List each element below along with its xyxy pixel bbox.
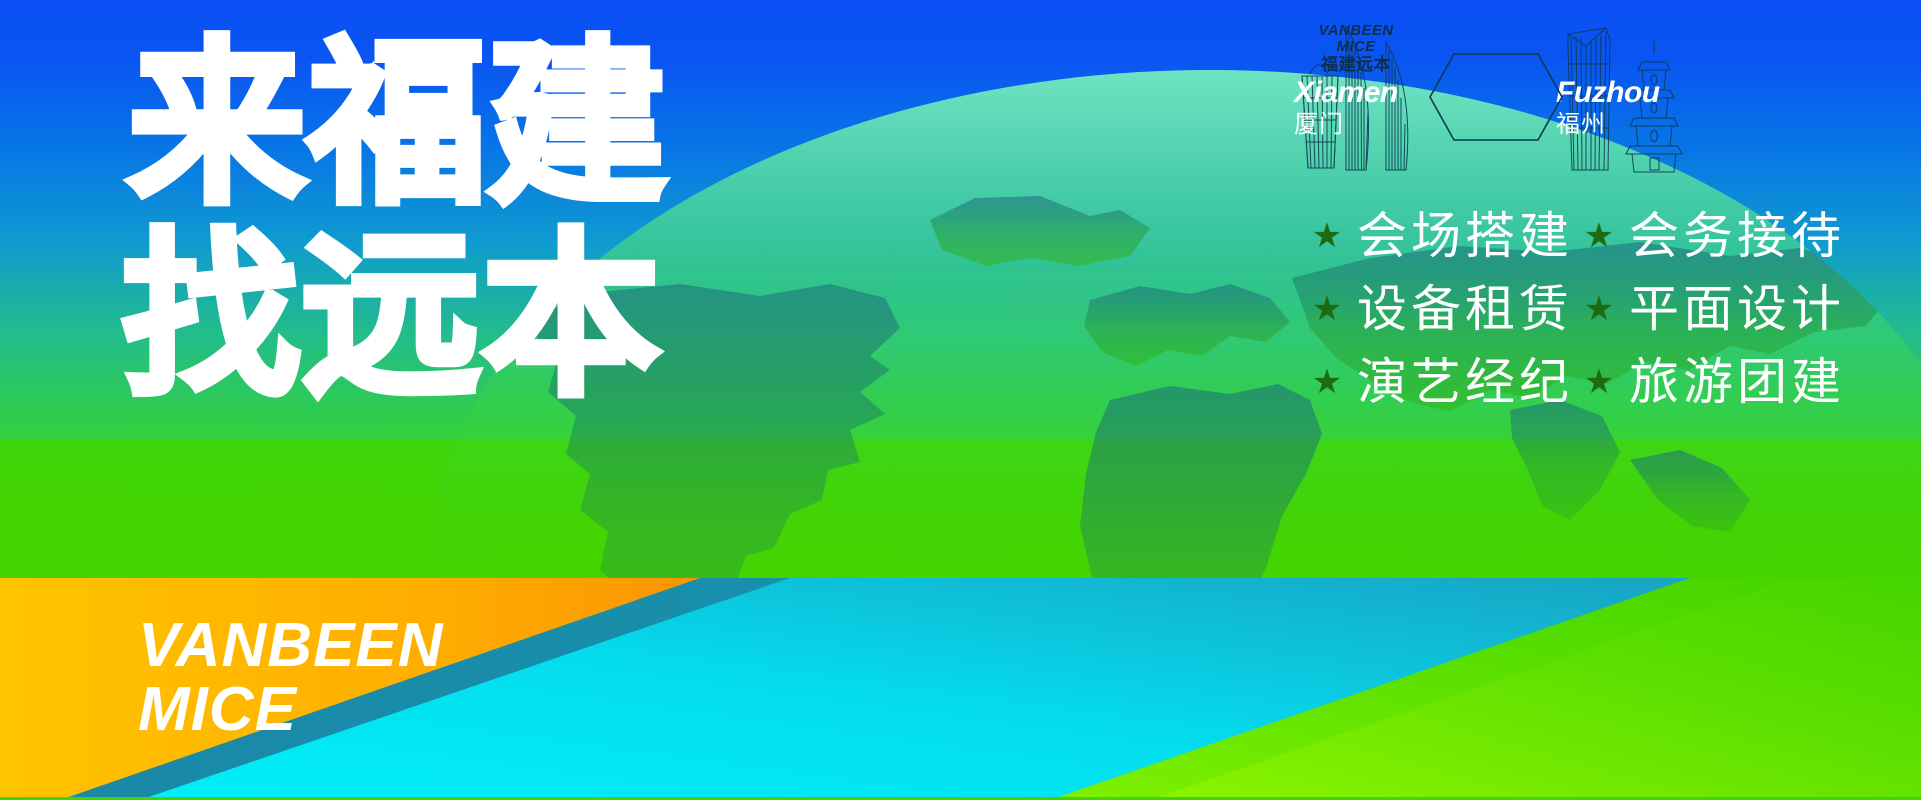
bottom-brand-bar: VANBEEN MICE xyxy=(0,578,1921,800)
vanbeen-hexagon-badge: VANBEEN MICE 福建远本 xyxy=(1288,4,1424,94)
star-icon: ★ xyxy=(1311,294,1343,326)
service-item-performance-agency[interactable]: ★ 演艺经纪 xyxy=(1311,356,1583,409)
promo-banner: 来福建 找远本 ★ 会场搭建 ★ 会务接待 ★ 设备租赁 ★ 平面设计 xyxy=(0,0,1921,800)
service-label: 会场搭建 xyxy=(1357,210,1573,263)
service-label: 设备租赁 xyxy=(1357,283,1573,336)
badge-line-1: VANBEEN xyxy=(1318,23,1393,38)
service-item-graphic-design[interactable]: ★ 平面设计 xyxy=(1583,283,1883,336)
service-item-equipment-rental[interactable]: ★ 设备租赁 xyxy=(1311,283,1583,336)
services-row-2: ★ 设备租赁 ★ 平面设计 xyxy=(1311,283,1883,336)
badge-line-2: MICE xyxy=(1336,39,1375,54)
city-name-en: Fuzhou xyxy=(1556,78,1660,108)
star-icon: ★ xyxy=(1583,367,1615,399)
star-icon: ★ xyxy=(1311,367,1343,399)
city-name-cn: 福州 xyxy=(1556,112,1660,136)
services-row-3: ★ 演艺经纪 ★ 旅游团建 xyxy=(1311,356,1883,409)
headline-line-2: 找远本 xyxy=(122,230,748,404)
service-label: 旅游团建 xyxy=(1629,356,1845,409)
service-item-venue-setup[interactable]: ★ 会场搭建 xyxy=(1311,210,1583,263)
service-label: 演艺经纪 xyxy=(1357,356,1573,409)
vanbeen-hexagon-badge-outline xyxy=(1428,52,1564,142)
city-name-cn: 厦门 xyxy=(1294,112,1398,136)
brand-line-2: MICE xyxy=(138,678,444,742)
service-label: 会务接待 xyxy=(1629,210,1845,263)
service-item-travel-teambuilding[interactable]: ★ 旅游团建 xyxy=(1583,356,1883,409)
city-label-fuzhou: Fuzhou 福州 xyxy=(1556,78,1660,136)
star-icon: ★ xyxy=(1583,294,1615,326)
star-icon: ★ xyxy=(1311,221,1343,253)
service-item-conference-reception[interactable]: ★ 会务接待 xyxy=(1583,210,1883,263)
services-list: ★ 会场搭建 ★ 会务接待 ★ 设备租赁 ★ 平面设计 ★ 演艺经纪 xyxy=(1311,210,1883,409)
service-label: 平面设计 xyxy=(1629,283,1845,336)
services-row-1: ★ 会场搭建 ★ 会务接待 xyxy=(1311,210,1883,263)
star-icon: ★ xyxy=(1583,221,1615,253)
brand-line-1: VANBEEN xyxy=(138,611,444,680)
headline: 来福建 找远本 xyxy=(128,38,748,405)
badge-line-cn: 福建远本 xyxy=(1321,56,1391,75)
brand-wordmark: VANBEEN MICE xyxy=(138,614,444,743)
cities-block: Xiamen 厦门 xyxy=(1288,4,1708,184)
headline-line-1: 来福建 xyxy=(128,38,748,212)
